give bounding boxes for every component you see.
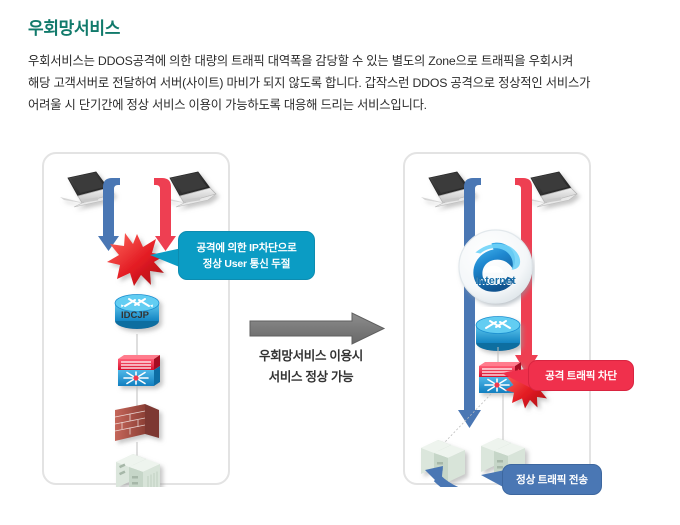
intro-line-1: 우회서비스는 DDOS공격에 의한 대량의 트래픽 대역폭을 감당할 수 있는 … bbox=[28, 50, 653, 72]
callout-normal-traffic: 정상 트래픽 전송 bbox=[502, 464, 602, 495]
internet-explorer-icon bbox=[456, 228, 535, 307]
after-diagram-art bbox=[403, 152, 593, 487]
center-caption: 우회망서비스 이용시 서비스 정상 가능 bbox=[236, 346, 386, 388]
callout-tail-attack-block bbox=[501, 368, 531, 388]
center-caption-line-1: 우회망서비스 이용시 bbox=[236, 346, 386, 367]
switch-icon bbox=[118, 355, 160, 386]
callout-normal-traffic-text: 정상 트래픽 전송 bbox=[516, 472, 588, 488]
intro-line-3: 어려울 시 단기간에 정상 서비스 이용이 가능하도록 대응해 드리는 서비스입… bbox=[28, 94, 653, 116]
intro-paragraph: 우회서비스는 DDOS공격에 의한 대량의 트래픽 대역폭을 감당할 수 있는 … bbox=[28, 50, 653, 116]
callout-attack-block-text: 공격 트래픽 차단 bbox=[545, 368, 617, 384]
internet-label: Internet bbox=[456, 275, 535, 287]
callout-attack-ipblock: 공격에 의한 IP차단으로 정상 User 통신 두절 bbox=[178, 231, 315, 280]
page-title: 우회망서비스 bbox=[28, 14, 120, 39]
callout-attack-block: 공격 트래픽 차단 bbox=[528, 360, 634, 391]
router-icon bbox=[476, 317, 520, 352]
server-icon bbox=[421, 440, 465, 482]
callout-attack-ipblock-line-2: 정상 User 통신 두절 bbox=[196, 256, 296, 272]
firewall-icon bbox=[115, 404, 159, 441]
server-icon bbox=[116, 454, 160, 487]
diagram-page: 우회망서비스 우회서비스는 DDOS공격에 의한 대량의 트래픽 대역폭을 감당… bbox=[0, 0, 680, 525]
red-traffic-arrow bbox=[154, 178, 176, 251]
right-arrow-icon bbox=[248, 312, 388, 346]
router-label-idcjp: IDCJP bbox=[93, 310, 177, 321]
callout-attack-ipblock-line-1: 공격에 의한 IP차단으로 bbox=[196, 240, 296, 256]
intro-line-2: 해당 고객서버로 전달하여 서버(사이트) 마비가 되지 않도록 합니다. 갑작… bbox=[28, 72, 653, 94]
center-caption-line-2: 서비스 정상 가능 bbox=[236, 367, 386, 388]
